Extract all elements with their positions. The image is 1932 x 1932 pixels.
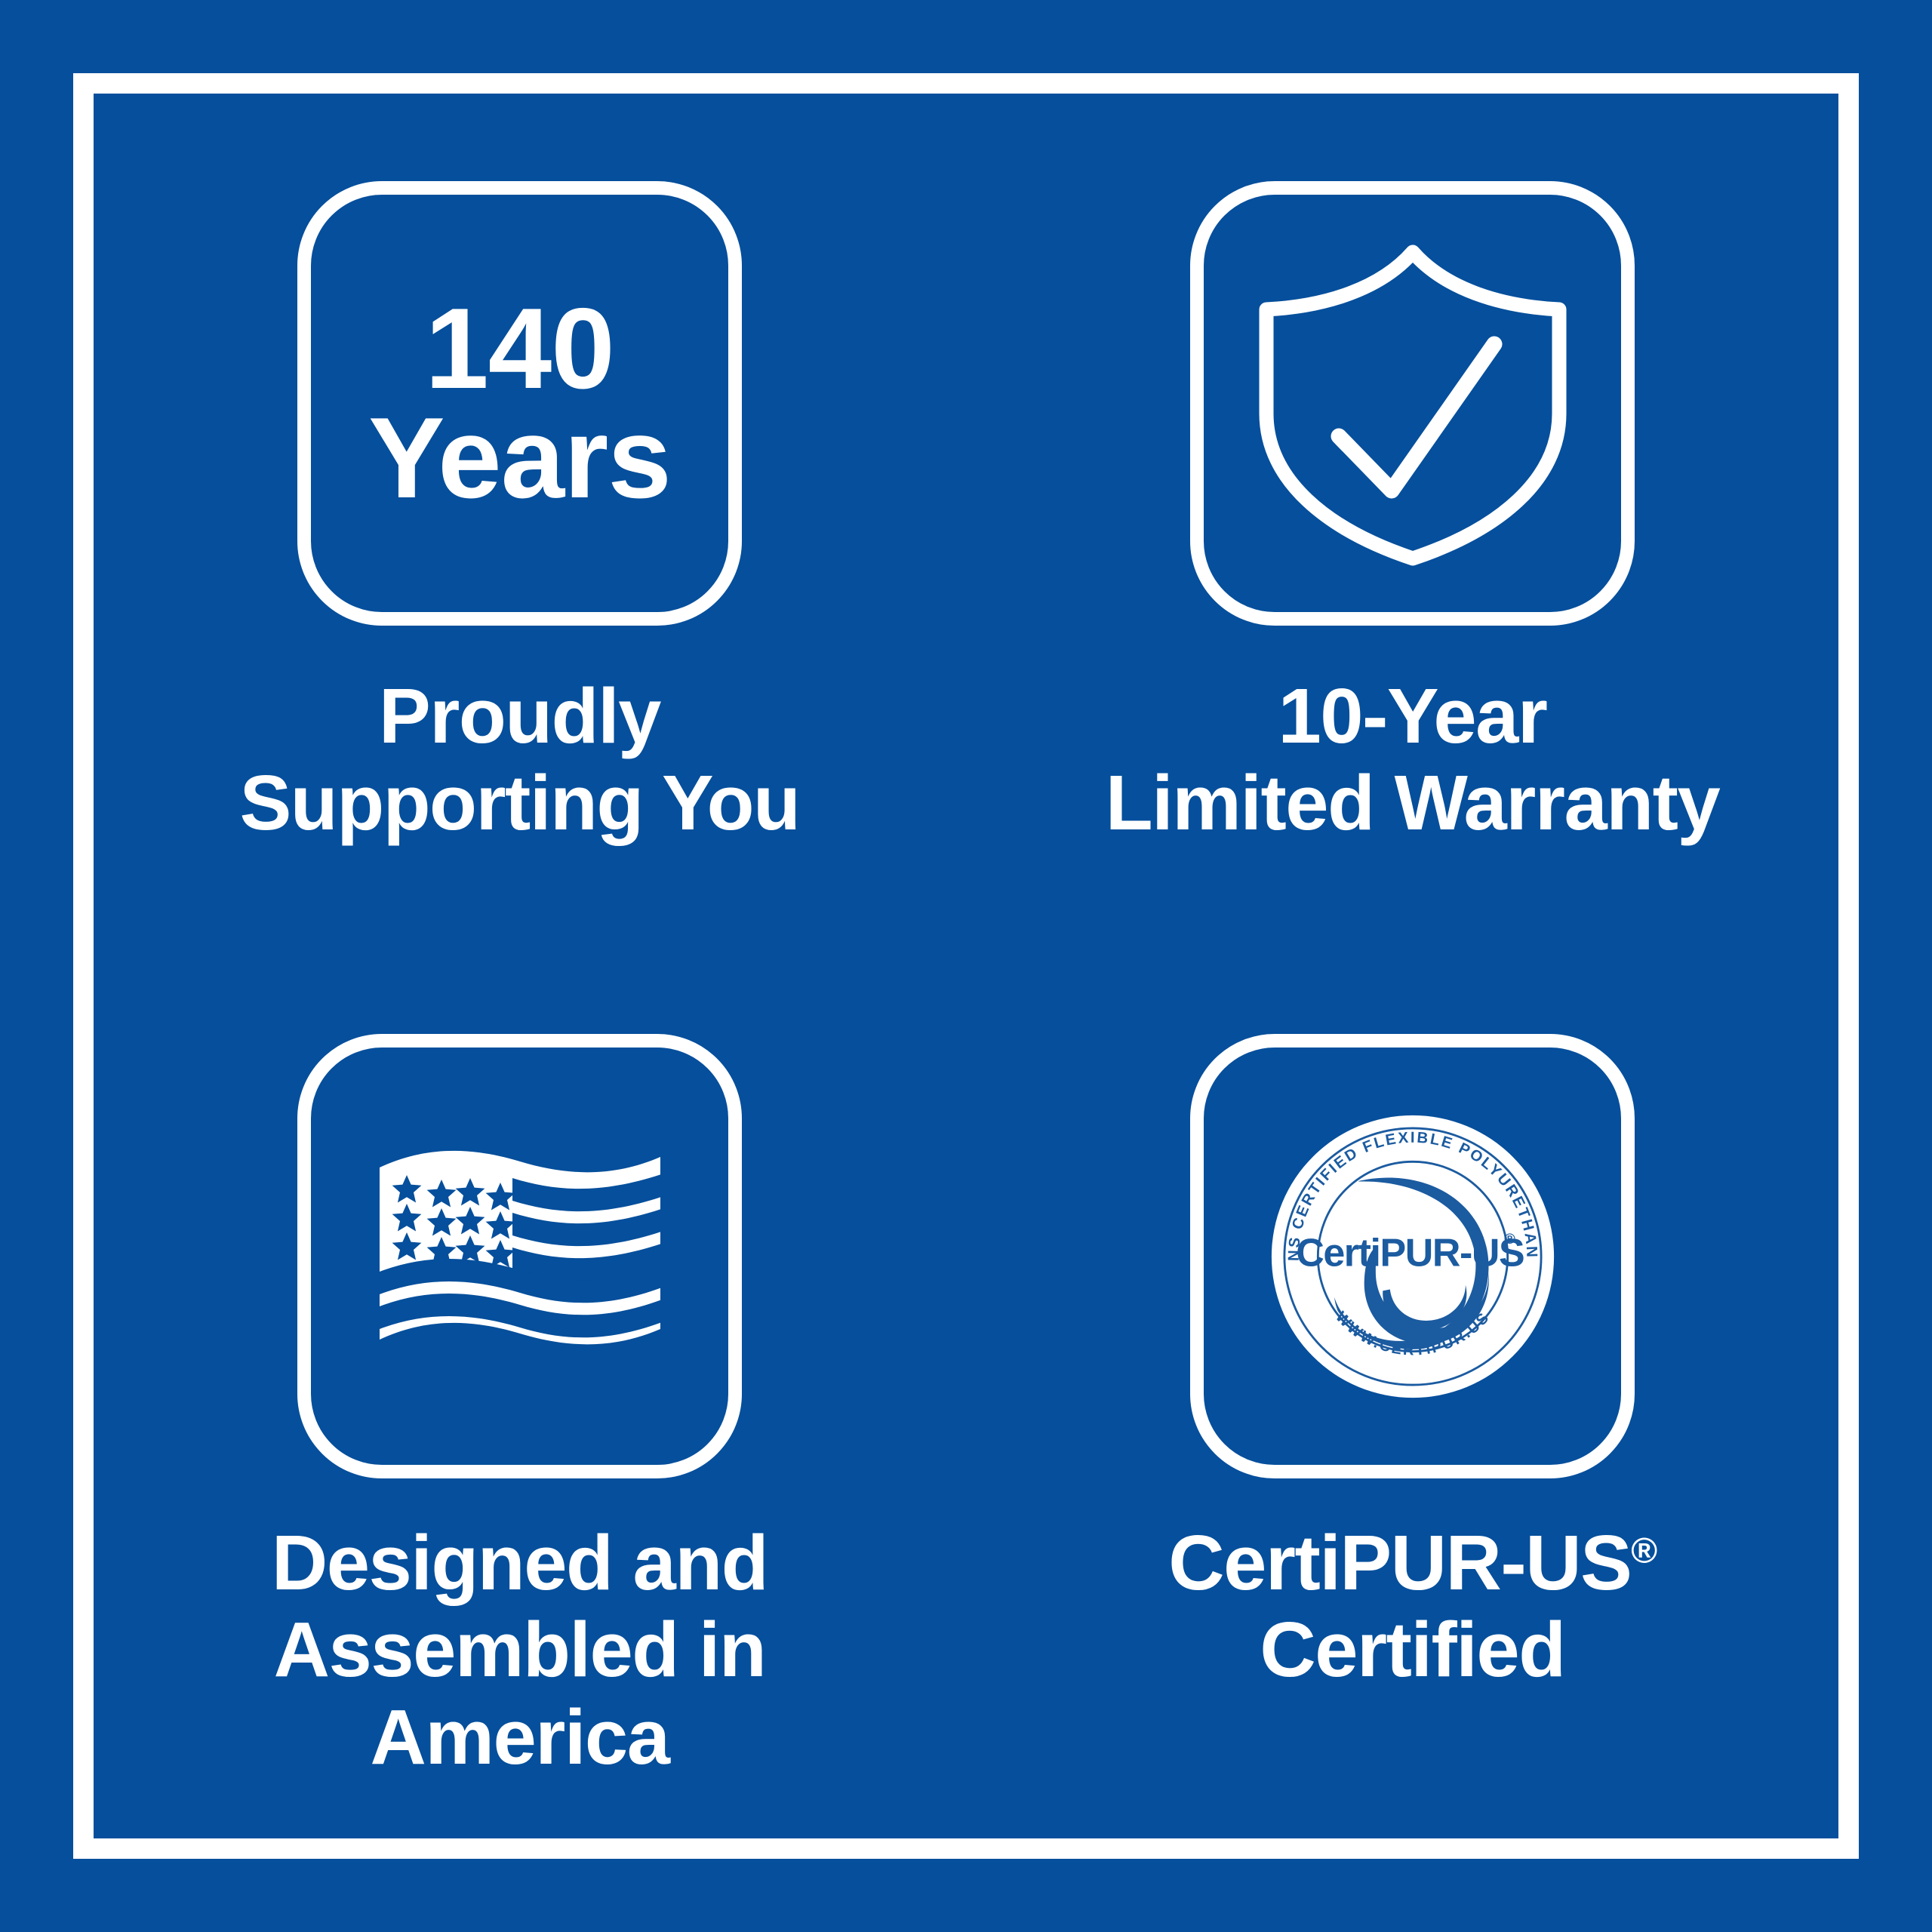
badge-years: 140 Years Proudly Supporting You xyxy=(73,73,966,966)
badge-warranty: 10-Year Limited Warranty xyxy=(966,73,1859,966)
promo-poster: 140 Years Proudly Supporting You 10-Year xyxy=(0,0,1932,1932)
badge-grid: 140 Years Proudly Supporting You 10-Year xyxy=(73,73,1859,1859)
certipur-seal-wordmark: CertiPUR-US xyxy=(1296,1231,1524,1275)
certipur-caption: CertiPUR-US®Certified xyxy=(1168,1519,1656,1694)
warranty-caption: 10-Year Limited Warranty xyxy=(1106,672,1719,847)
american-flag-icon xyxy=(372,1148,668,1365)
140-years-text-icon: 140 Years xyxy=(368,294,671,512)
years-number: 140 xyxy=(368,294,671,403)
warranty-tile xyxy=(1190,181,1635,626)
years-caption: Proudly Supporting You xyxy=(240,672,800,847)
certipur-seal-registered-mark: ® xyxy=(1504,1230,1515,1247)
badge-certipur: CertiPUR-US ® CONTAINS CERTIFIED FLEXIBL… xyxy=(966,966,1859,1859)
certipur-caption-line1: CertiPUR-US xyxy=(1168,1519,1631,1606)
shield-check-icon xyxy=(1254,241,1571,566)
badge-made-in-america: Designed and Assembled in America xyxy=(73,966,966,1859)
years-tile: 140 Years xyxy=(297,181,742,626)
certipur-us-seal-icon: CertiPUR-US ® CONTAINS CERTIFIED FLEXIBL… xyxy=(1270,1114,1555,1399)
made-in-america-caption: Designed and Assembled in America xyxy=(272,1519,768,1780)
years-word: Years xyxy=(368,404,671,512)
registered-mark: ® xyxy=(1631,1531,1656,1571)
certipur-caption-line2: Certified xyxy=(1260,1606,1564,1693)
made-in-america-tile xyxy=(297,1034,742,1478)
certipur-tile: CertiPUR-US ® CONTAINS CERTIFIED FLEXIBL… xyxy=(1190,1034,1635,1478)
